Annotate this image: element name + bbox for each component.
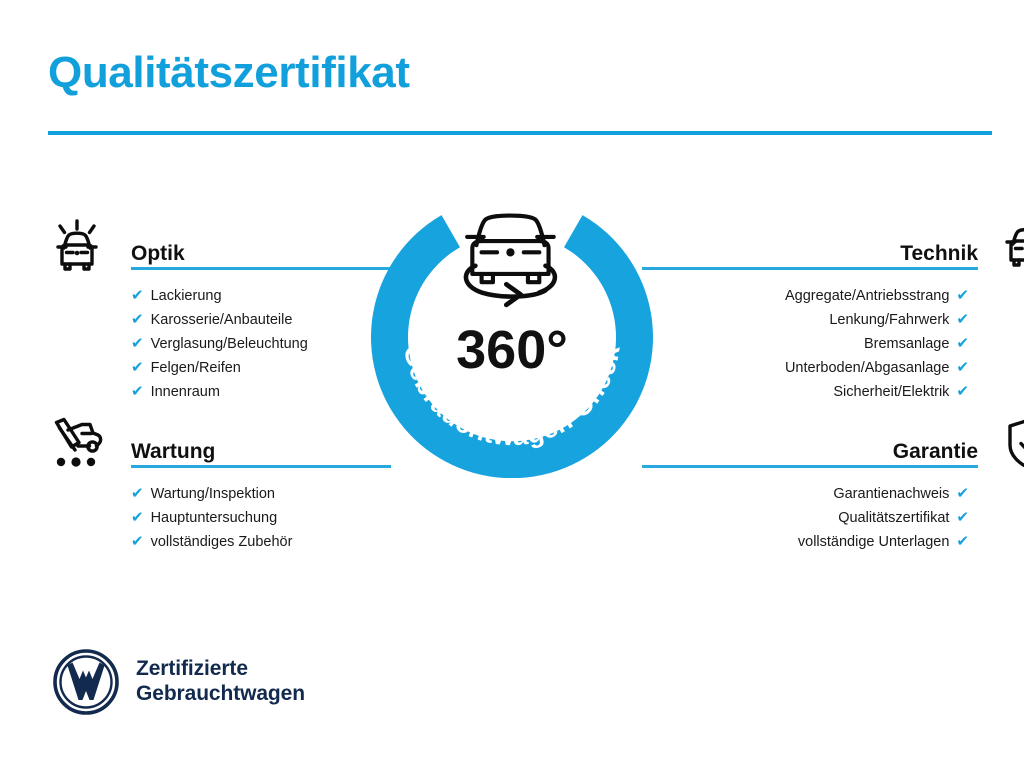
list-item: Aggregate/Antriebsstrang✔ bbox=[633, 284, 969, 308]
check-icon: ✔ bbox=[956, 486, 969, 501]
column-right-garantie: Garantie Garantienachweis✔ Qualitätszert… bbox=[633, 426, 978, 554]
section-wartung-list: ✔Wartung/Inspektion ✔Hauptuntersuchung ✔… bbox=[46, 482, 391, 554]
list-item-label: Innenraum bbox=[151, 380, 220, 404]
section-wartung-title: Wartung bbox=[131, 441, 215, 462]
column-right-technik: Technik Aggregate/Antriebsstrang✔ Lenkun… bbox=[633, 228, 978, 404]
list-item: ✔Felgen/Reifen bbox=[131, 356, 391, 380]
list-item: ✔Innenraum bbox=[131, 380, 391, 404]
list-item-label: Karosserie/Anbauteile bbox=[151, 308, 293, 332]
section-technik-list: Aggregate/Antriebsstrang✔ Lenkung/Fahrwe… bbox=[633, 284, 978, 404]
section-garantie-title: Garantie bbox=[893, 441, 978, 462]
list-item: Qualitätszertifikat✔ bbox=[633, 506, 969, 530]
section-optik: Optik ✔Lackierung ✔Karosserie/Anbauteile… bbox=[46, 228, 391, 404]
certificate-page: Qualitätszertifikat bbox=[0, 0, 1024, 768]
vw-logo-icon bbox=[52, 648, 120, 716]
check-icon: ✔ bbox=[131, 534, 144, 549]
section-garantie-list: Garantienachweis✔ Qualitätszertifikat✔ v… bbox=[633, 482, 978, 554]
list-item-label: Wartung/Inspektion bbox=[151, 482, 275, 506]
section-optik-list: ✔Lackierung ✔Karosserie/Anbauteile ✔Verg… bbox=[46, 284, 391, 404]
list-item-label: Felgen/Reifen bbox=[151, 356, 241, 380]
footer-logo: ZertifizierteGebrauchtwagen bbox=[52, 648, 305, 716]
list-item: Unterboden/Abgasanlage✔ bbox=[633, 356, 969, 380]
list-item: ✔Karosserie/Anbauteile bbox=[131, 308, 391, 332]
list-item: ✔Verglasung/Beleuchtung bbox=[131, 332, 391, 356]
list-item: ✔Hauptuntersuchung bbox=[131, 506, 391, 530]
list-item-label: Sicherheit/Elektrik bbox=[833, 380, 949, 404]
check-icon: ✔ bbox=[956, 360, 969, 375]
check-icon: ✔ bbox=[131, 384, 144, 399]
list-item-label: Hauptuntersuchung bbox=[151, 506, 278, 530]
check-icon: ✔ bbox=[131, 510, 144, 525]
list-item: Lenkung/Fahrwerk✔ bbox=[633, 308, 969, 332]
list-item: ✔vollständiges Zubehör bbox=[131, 530, 391, 554]
list-item-label: Lackierung bbox=[151, 284, 222, 308]
section-garantie-header: Garantie bbox=[633, 426, 978, 468]
check-icon: ✔ bbox=[131, 360, 144, 375]
list-item: Garantienachweis✔ bbox=[633, 482, 969, 506]
section-technik-header: Technik bbox=[633, 228, 978, 270]
footer-logo-line2: Gebrauchtwagen bbox=[136, 682, 305, 705]
section-garantie-divider bbox=[642, 465, 978, 468]
section-technik-divider bbox=[642, 267, 978, 270]
check-icon: ✔ bbox=[956, 288, 969, 303]
check-icon: ✔ bbox=[956, 312, 969, 327]
page-title: Qualitätszertifikat bbox=[48, 48, 410, 99]
shield-check-icon bbox=[998, 416, 1024, 474]
car-checkbox-icon bbox=[998, 218, 1024, 276]
list-item-label: Qualitätszertifikat bbox=[838, 506, 949, 530]
section-wartung-divider bbox=[131, 465, 391, 468]
list-item-label: Bremsanlage bbox=[864, 332, 949, 356]
section-garantie: Garantie Garantienachweis✔ Qualitätszert… bbox=[633, 426, 978, 554]
list-item-label: vollständige Unterlagen bbox=[798, 530, 950, 554]
check-icon: ✔ bbox=[131, 288, 144, 303]
column-left-optik: Optik ✔Lackierung ✔Karosserie/Anbauteile… bbox=[46, 228, 391, 404]
section-technik: Technik Aggregate/Antriebsstrang✔ Lenkun… bbox=[633, 228, 978, 404]
check-icon: ✔ bbox=[131, 336, 144, 351]
check-icon: ✔ bbox=[131, 486, 144, 501]
list-item: Sicherheit/Elektrik✔ bbox=[633, 380, 969, 404]
footer-logo-line1: Zertifizierte bbox=[136, 657, 248, 680]
check-icon: ✔ bbox=[956, 384, 969, 399]
check-icon: ✔ bbox=[956, 336, 969, 351]
section-optik-header: Optik bbox=[46, 228, 391, 270]
check-icon: ✔ bbox=[956, 534, 969, 549]
list-item: vollständige Unterlagen✔ bbox=[633, 530, 969, 554]
badge-360-gebrauchtwagen-check: Gebrauchtwagen-Check 360° bbox=[371, 196, 653, 478]
list-item: Bremsanlage✔ bbox=[633, 332, 969, 356]
list-item-label: Verglasung/Beleuchtung bbox=[151, 332, 308, 356]
check-icon: ✔ bbox=[956, 510, 969, 525]
car-rotate-icon bbox=[466, 216, 555, 305]
section-technik-title: Technik bbox=[900, 243, 978, 264]
list-item-label: Lenkung/Fahrwerk bbox=[829, 308, 949, 332]
list-item: ✔Lackierung bbox=[131, 284, 391, 308]
list-item-label: Aggregate/Antriebsstrang bbox=[785, 284, 949, 308]
section-wartung-header: Wartung bbox=[46, 426, 391, 468]
column-left-wartung: Wartung ✔Wartung/Inspektion ✔Hauptunters… bbox=[46, 426, 391, 554]
list-item-label: Unterboden/Abgasanlage bbox=[785, 356, 949, 380]
footer-logo-text: ZertifizierteGebrauchtwagen bbox=[136, 657, 305, 707]
list-item-label: Garantienachweis bbox=[833, 482, 949, 506]
badge-center-label: 360° bbox=[456, 320, 568, 380]
section-wartung: Wartung ✔Wartung/Inspektion ✔Hauptunters… bbox=[46, 426, 391, 554]
list-item-label: vollständiges Zubehör bbox=[151, 530, 293, 554]
section-optik-divider bbox=[131, 267, 391, 270]
section-optik-title: Optik bbox=[131, 243, 185, 264]
title-divider bbox=[48, 131, 992, 135]
list-item: ✔Wartung/Inspektion bbox=[131, 482, 391, 506]
check-icon: ✔ bbox=[131, 312, 144, 327]
